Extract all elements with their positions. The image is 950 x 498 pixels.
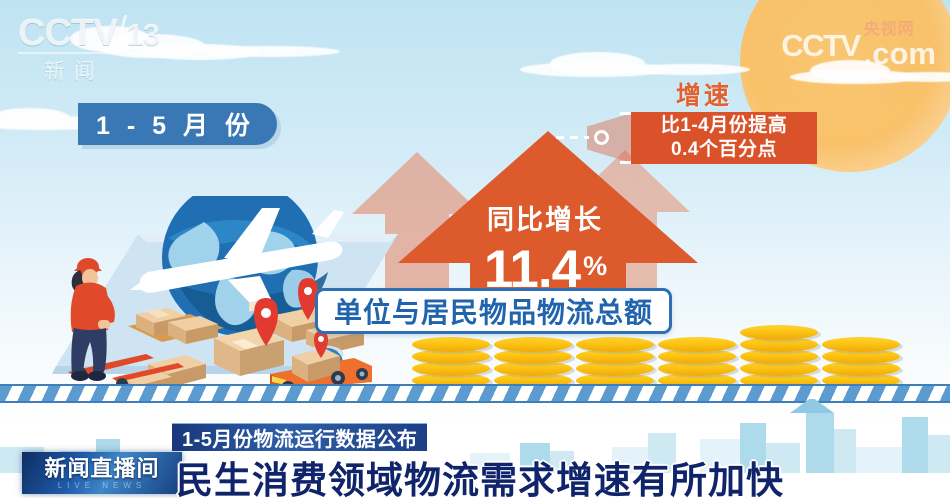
roof-shape [790,399,834,413]
metric-label: 单位与居民物品物流总额 [334,291,653,331]
coin-stack [412,336,490,388]
coin-stack [822,336,900,388]
channel-sub-label: 新闻 [18,55,130,85]
coin-stack-tall [740,322,818,388]
headline-text: 民生消费领域物流需求增速有所加快 [176,450,784,498]
coin-stack [658,336,736,388]
metric-label-pill: 单位与居民物品物流总额 [315,288,672,334]
watermark-latin: CCTV [781,28,859,64]
arrow-caption: 同比增长 [455,198,635,237]
growth-rate-label: 增速 [676,76,732,112]
broadcast-graphic: CCTV 13 新闻 CCTV 央视网 .com 1 - 5 月 份 同比增长 … [0,0,950,498]
callout-connector-dot-icon [594,130,609,145]
period-tag: 1 - 5 月 份 [78,103,277,145]
channel-logo-text: CCTV [18,14,117,52]
channel-number: 13 [126,16,158,54]
callout-connector-dashes [556,136,589,139]
program-name-en: LIVE NEWS [58,481,147,490]
watermark: CCTV 央视网 .com [781,22,936,69]
topic-text: 1-5月份物流运行数据公布 [182,423,417,452]
program-logo: 新闻直播间 LIVE NEWS [22,452,182,494]
channel-logo: CCTV 13 新闻 [18,14,168,76]
period-tag-label: 1 - 5 月 份 [96,106,255,142]
topic-band: 1-5月份物流运行数据公布 [172,423,427,451]
callout-line-2: 0.4个百分点 [671,138,777,162]
arrow-unit: % [583,251,606,281]
callout-line-1: 比1-4月份提高 [661,114,787,138]
program-name-cn: 新闻直播间 [44,457,159,480]
coin-stack [576,336,654,388]
watermark-domain: .com [864,38,936,69]
coin-stack [494,336,572,388]
arrow-text-block: 同比增长 11.4% [455,198,635,299]
callout-box: 比1-4月份提高 0.4个百分点 [631,112,817,164]
